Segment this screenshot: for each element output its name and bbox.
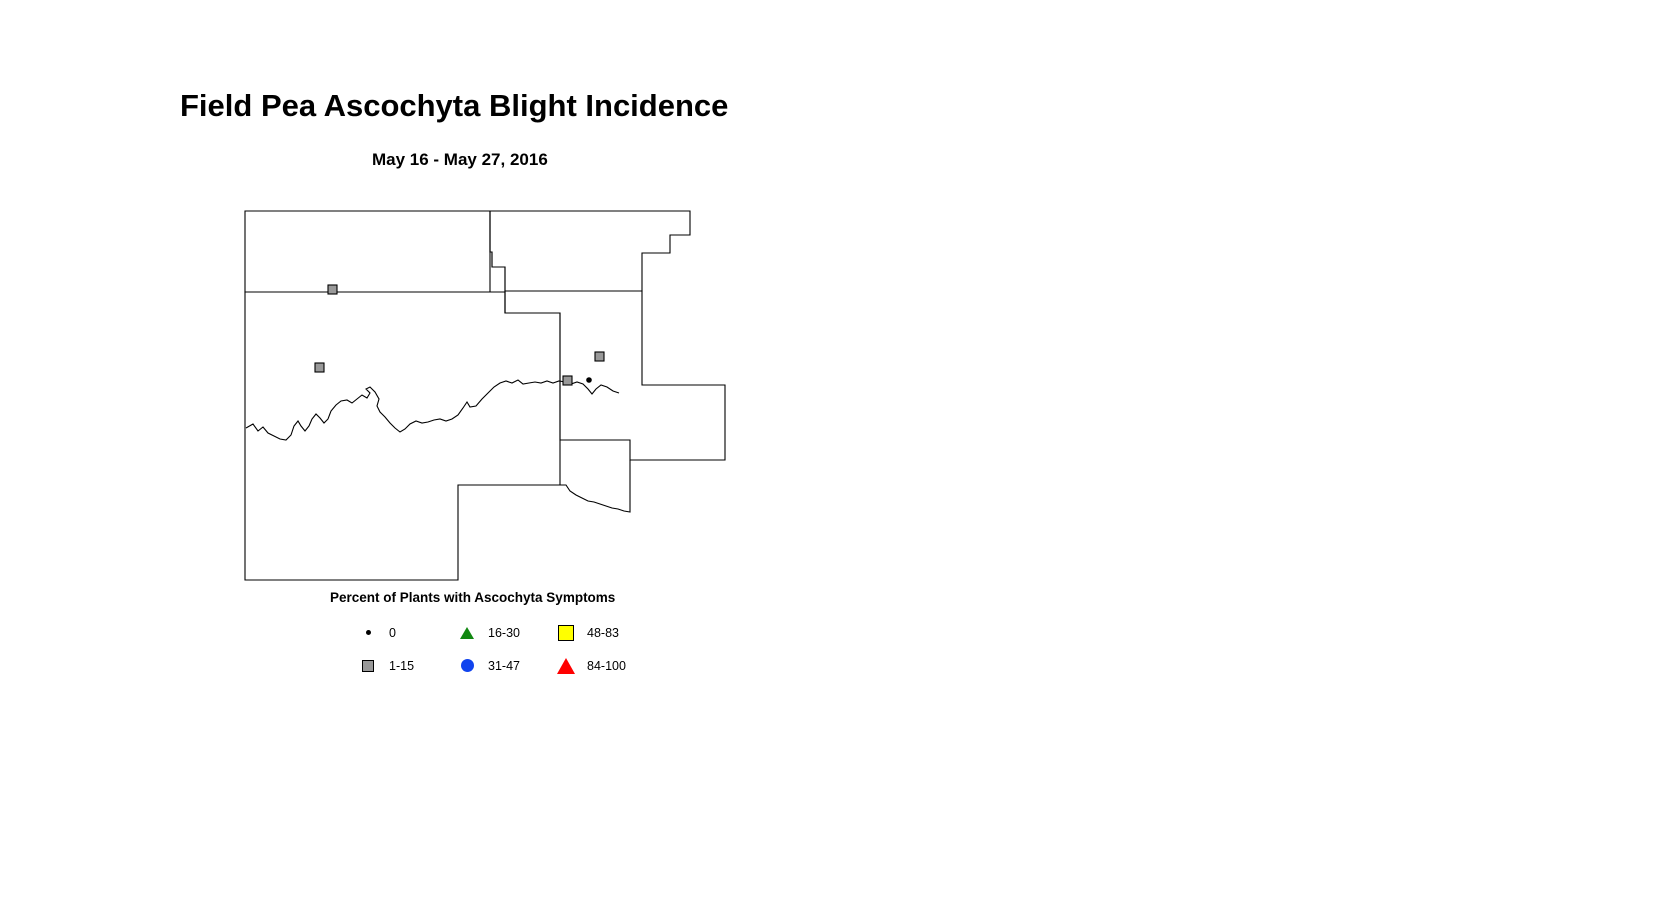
map-legend: Percent of Plants with Ascochyta Symptom… bbox=[330, 590, 760, 685]
boundary-divider-vertical bbox=[490, 211, 505, 313]
boundary-river-lower bbox=[560, 460, 630, 512]
circle-blue-icon bbox=[454, 657, 480, 675]
map-markers bbox=[315, 285, 604, 385]
legend-item-label: 1-15 bbox=[381, 659, 414, 673]
county-map-svg bbox=[230, 195, 750, 595]
boundary-river bbox=[246, 380, 619, 440]
legend-item-0[interactable]: 0 bbox=[355, 624, 454, 642]
legend-title: Percent of Plants with Ascochyta Symptom… bbox=[330, 590, 615, 605]
legend-item-84-100[interactable]: 84-100 bbox=[553, 657, 652, 675]
map-marker-square-4[interactable] bbox=[563, 376, 572, 385]
legend-item-48-83[interactable]: 48-83 bbox=[553, 624, 652, 642]
legend-grid: 0 16-30 48-83 1-15 31-47 bbox=[355, 616, 755, 682]
triangle-red-icon bbox=[553, 657, 579, 675]
legend-item-1-15[interactable]: 1-15 bbox=[355, 657, 454, 675]
legend-row: 0 16-30 48-83 bbox=[355, 616, 755, 649]
map-marker-dot-1[interactable] bbox=[586, 377, 592, 383]
page-subtitle: May 16 - May 27, 2016 bbox=[372, 150, 548, 170]
legend-item-label: 84-100 bbox=[579, 659, 626, 673]
map-marker-square-1[interactable] bbox=[328, 285, 337, 294]
boundary-northwest-county bbox=[245, 211, 490, 292]
legend-item-label: 48-83 bbox=[579, 626, 619, 640]
map-marker-square-3[interactable] bbox=[595, 352, 604, 361]
map-page: Field Pea Ascochyta Blight Incidence May… bbox=[0, 0, 1673, 900]
boundary-northeast-county bbox=[490, 211, 690, 291]
map-marker-square-2[interactable] bbox=[315, 363, 324, 372]
square-gray-icon bbox=[355, 657, 381, 675]
legend-item-label: 31-47 bbox=[480, 659, 520, 673]
legend-item-31-47[interactable]: 31-47 bbox=[454, 657, 553, 675]
square-yellow-icon bbox=[553, 624, 579, 642]
page-title: Field Pea Ascochyta Blight Incidence bbox=[180, 88, 728, 124]
triangle-green-icon bbox=[454, 624, 480, 642]
legend-item-label: 16-30 bbox=[480, 626, 520, 640]
boundary-east-county bbox=[505, 291, 725, 460]
boundary-west-county bbox=[245, 292, 560, 580]
legend-row: 1-15 31-47 84-100 bbox=[355, 649, 755, 682]
map-boundaries bbox=[245, 211, 725, 580]
legend-item-label: 0 bbox=[381, 626, 396, 640]
dot-black-icon bbox=[355, 624, 381, 642]
legend-item-16-30[interactable]: 16-30 bbox=[454, 624, 553, 642]
map-figure bbox=[230, 195, 750, 595]
